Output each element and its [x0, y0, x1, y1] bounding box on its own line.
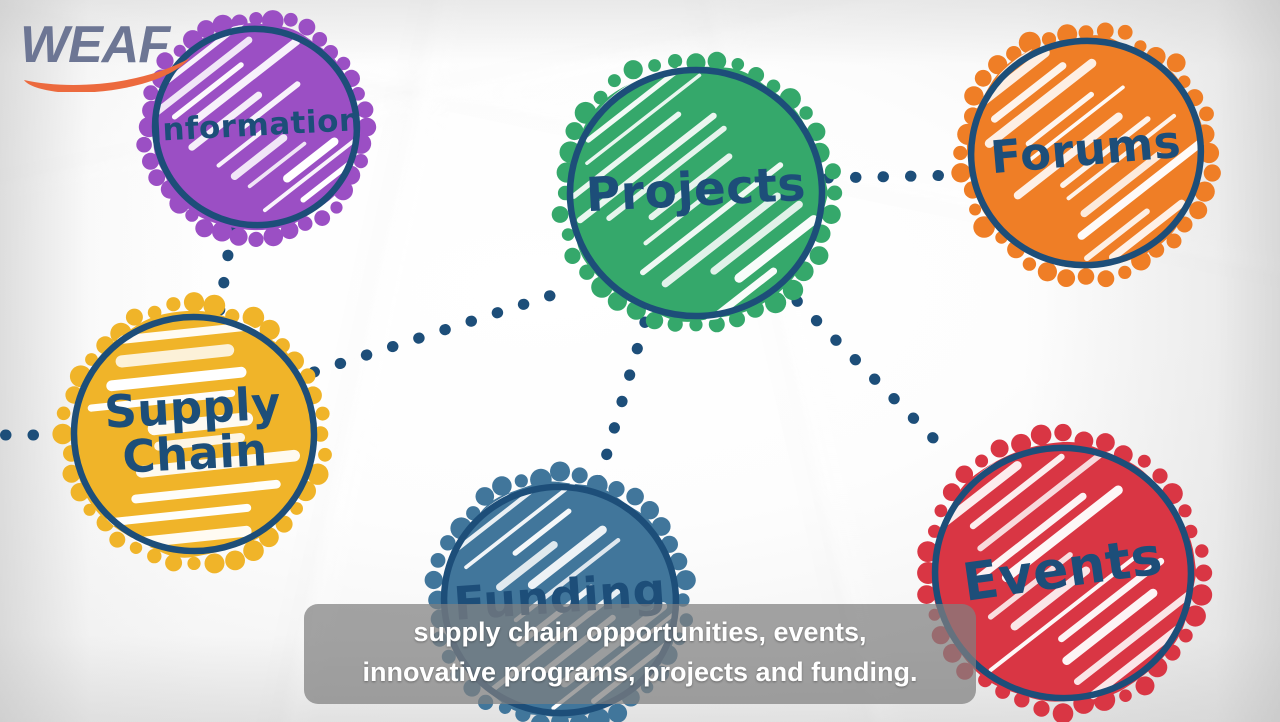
- node-label-projects: Projects: [584, 157, 807, 223]
- subtitle-caption: supply chain opportunities, events, inno…: [304, 604, 976, 704]
- node-label-supply-chain: SupplyChain: [103, 377, 285, 485]
- caption-line-1: supply chain opportunities, events,: [330, 613, 950, 652]
- video-frame: WEAF InformationProjectsForumsSupplyChai…: [0, 0, 1280, 722]
- weaf-logo-svg: WEAF: [18, 12, 228, 92]
- caption-line-2: innovative programs, projects and fundin…: [330, 653, 950, 692]
- node-supply-chain[interactable]: SupplyChain: [52, 292, 332, 573]
- node-projects[interactable]: Projects: [536, 52, 843, 333]
- node-label-line-projects-0: Projects: [584, 157, 807, 223]
- node-forums[interactable]: Forums: [950, 19, 1222, 287]
- weaf-logo: WEAF: [18, 12, 228, 92]
- node-label-line-supply-chain-1: Chain: [121, 423, 269, 484]
